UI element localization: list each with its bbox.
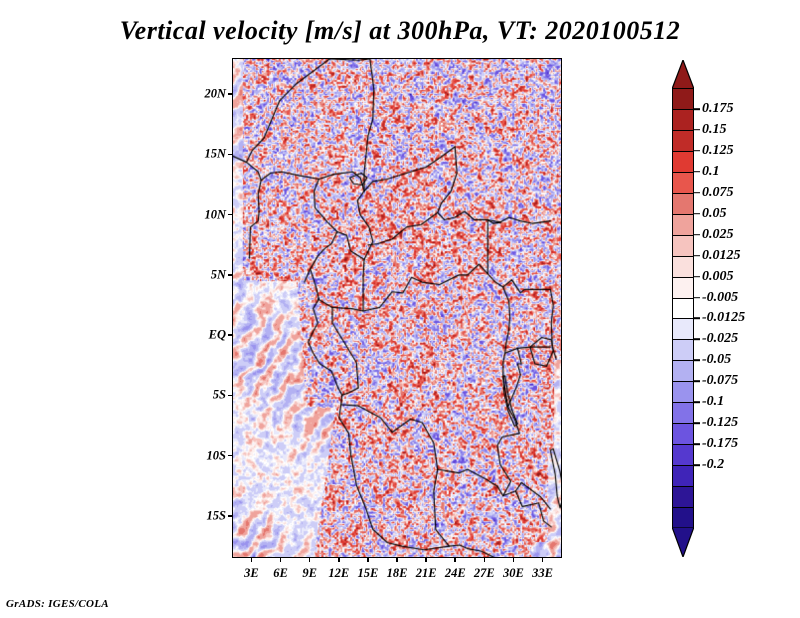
colorbar-tick-label: 0.175 [702, 101, 734, 117]
colorbar-tick-label: 0.125 [702, 143, 734, 159]
colorbar-tick-label: 0.005 [702, 269, 734, 285]
colorbar-band [672, 360, 694, 382]
colorbar-tick-label: 0.1 [702, 164, 720, 180]
colorbar-tick-label: 0.025 [702, 227, 734, 243]
y-axis-tick [228, 455, 233, 457]
colorbar-tick-label: 0.0125 [702, 248, 741, 264]
colorbar-band [672, 381, 694, 403]
y-axis-tick-label: 20N [186, 87, 226, 102]
country-borders-overlay [233, 59, 561, 557]
colorbar-tick-label: 0.075 [702, 185, 734, 201]
x-axis-tick [396, 557, 398, 562]
colorbar-tick-label: -0.05 [702, 352, 731, 368]
colorbar-tick [694, 401, 700, 403]
y-axis-tick [228, 93, 233, 95]
colorbar-min-arrow-icon [672, 527, 694, 557]
x-axis-tick [454, 557, 456, 562]
x-axis-tick-label: 30E [503, 566, 524, 581]
page-title: Vertical velocity [m/s] at 300hPa, VT: 2… [0, 16, 800, 46]
map-plot-area [232, 58, 562, 558]
colorbar-tick [694, 150, 700, 152]
x-axis-tick [425, 557, 427, 562]
colorbar-band [672, 507, 694, 529]
colorbar-band [672, 423, 694, 445]
colorbar-band [672, 444, 694, 466]
x-axis-tick [280, 557, 282, 562]
colorbar-tick [694, 443, 700, 445]
colorbar-tick [694, 464, 700, 466]
colorbar-tick-label: -0.005 [702, 290, 738, 306]
colorbar-tick [694, 255, 700, 257]
colorbar-band [672, 88, 694, 110]
x-axis-tick-label: 24E [445, 566, 466, 581]
colorbar: 0.1750.150.1250.10.0750.050.0250.01250.0… [666, 58, 796, 563]
y-axis-tick-label: 5N [186, 267, 226, 282]
colorbar-band [672, 339, 694, 361]
x-axis-tick [484, 557, 486, 562]
x-axis-tick [251, 557, 253, 562]
colorbar-tick-label: -0.125 [702, 415, 738, 431]
x-axis-tick [338, 557, 340, 562]
x-axis-tick-label: 15E [357, 566, 378, 581]
colorbar-tick-label: -0.2 [702, 457, 724, 473]
y-axis-tick [228, 515, 233, 517]
colorbar-bands [672, 88, 694, 528]
y-axis-tick-label: 15N [186, 147, 226, 162]
colorbar-tick [694, 381, 700, 383]
y-axis-tick-label: 10S [186, 448, 226, 463]
x-axis-tick-label: 9E [302, 566, 317, 581]
colorbar-band [672, 130, 694, 152]
y-axis-tick [228, 395, 233, 397]
y-axis-tick-label: 15S [186, 508, 226, 523]
colorbar-tick-label: -0.025 [702, 331, 738, 347]
colorbar-tick-label: -0.0125 [702, 310, 745, 326]
x-axis-tick-label: 21E [416, 566, 437, 581]
x-axis-tick-label: 27E [474, 566, 495, 581]
colorbar-tick [694, 108, 700, 110]
colorbar-band [672, 193, 694, 215]
colorbar-tick-label: -0.075 [702, 373, 738, 389]
colorbar-band [672, 151, 694, 173]
colorbar-band [672, 465, 694, 487]
colorbar-tick-label: 0.15 [702, 122, 727, 138]
colorbar-tick [694, 276, 700, 278]
colorbar-tick [694, 192, 700, 194]
colorbar-band [672, 109, 694, 131]
colorbar-tick-label: -0.175 [702, 436, 738, 452]
y-axis-tick [228, 334, 233, 336]
colorbar-band [672, 256, 694, 278]
x-axis-tick [367, 557, 369, 562]
x-axis-tick-label: 18E [387, 566, 408, 581]
colorbar-tick [694, 360, 700, 362]
x-axis-tick [542, 557, 544, 562]
colorbar-tick [694, 339, 700, 341]
x-axis-tick-label: 12E [328, 566, 349, 581]
y-axis-tick-label: 5S [186, 388, 226, 403]
x-axis-tick-label: 6E [273, 566, 288, 581]
colorbar-band [672, 298, 694, 320]
colorbar-band [672, 277, 694, 299]
colorbar-tick-label: 0.05 [702, 206, 727, 222]
colorbar-tick [694, 234, 700, 236]
colorbar-band [672, 402, 694, 424]
y-axis-tick-label: 10N [186, 207, 226, 222]
y-axis-tick [228, 214, 233, 216]
colorbar-tick-label: -0.1 [702, 394, 724, 410]
grads-credit: GrADS: IGES/COLA [6, 598, 109, 610]
colorbar-tick [694, 213, 700, 215]
colorbar-band [672, 172, 694, 194]
y-axis-tick [228, 154, 233, 156]
colorbar-band [672, 235, 694, 257]
y-axis-tick-label: EQ [186, 328, 226, 343]
colorbar-tick [694, 129, 700, 131]
colorbar-band [672, 486, 694, 508]
colorbar-tick [694, 297, 700, 299]
x-axis-tick [309, 557, 311, 562]
x-axis-tick [513, 557, 515, 562]
x-axis-tick-label: 33E [532, 566, 553, 581]
colorbar-band [672, 318, 694, 340]
colorbar-max-arrow-icon [672, 60, 694, 89]
colorbar-tick [694, 171, 700, 173]
colorbar-tick [694, 422, 700, 424]
x-axis-tick-label: 3E [244, 566, 259, 581]
colorbar-band [672, 214, 694, 236]
colorbar-tick [694, 318, 700, 320]
y-axis-tick [228, 274, 233, 276]
